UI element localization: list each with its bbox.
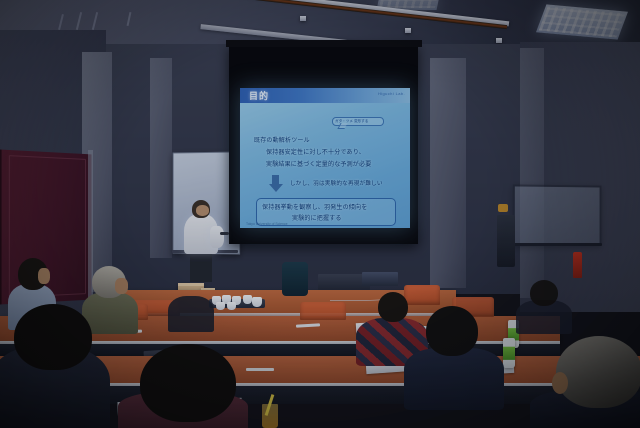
teacup-5: [216, 302, 225, 310]
attendee-foreground-right-ear: [552, 372, 568, 394]
wall-equipment-dark: [497, 215, 515, 267]
front-seat-right: [404, 285, 440, 305]
attendee-left-woman-face: [38, 268, 50, 284]
equipment-case: [362, 272, 398, 286]
attendee-far-left-mid-body: [168, 296, 214, 332]
track-mount-c: [496, 38, 502, 43]
slide-surface: 目的 Higuchi Lab. ガタ・ツメ 変形する 既存の動解析ツール 保持器…: [240, 88, 410, 228]
green-tea-bottle-2: [503, 338, 515, 368]
attendee-foreground-left-head: [14, 304, 92, 370]
slide-line-3: 実験結果に基づく定量的な予測が必要: [266, 159, 371, 168]
attendee-grey-hair-face: [115, 278, 128, 294]
attendee-navy-jacket-body: [404, 348, 504, 410]
whiteboard-tray-right: [512, 243, 602, 246]
attendee-foreground-right-head: [556, 336, 640, 408]
slide-line-2: 保持器安定性に対し不十分であり、: [266, 147, 365, 156]
slide-arrow-note: しかし、羽は実験的な再現が難しい: [290, 179, 383, 187]
attendee-foreground-centre-head: [140, 344, 236, 422]
slide-arrow-head-icon: [269, 184, 283, 192]
whiteboard-right-wall: [513, 184, 602, 246]
pen-row3-b: [246, 368, 274, 371]
slide-result-line-1: 保持器挙動を観察し、羽発生の傾向を: [262, 202, 367, 211]
slide-line-1: 既存の動解析ツール: [254, 135, 310, 144]
slide-result-line-2: 実験的に把握する: [292, 213, 342, 222]
slide-lab-logo: Higuchi Lab.: [378, 91, 405, 96]
pillar-centre-left: [150, 58, 172, 258]
presenter-face: [196, 205, 209, 216]
slide-footer: Tokyo University of Science: [246, 222, 287, 226]
slide-body: ガタ・ツメ 変形する 既存の動解析ツール 保持器安定性に対し不十分であり、 実験…: [240, 103, 410, 228]
slide-callout-text: ガタ・ツメ 変形する: [335, 119, 381, 124]
attendee-mid-right-head: [530, 280, 558, 306]
presenter-pointer: [220, 232, 229, 235]
presenter-arm: [210, 226, 224, 248]
track-mount-a: [300, 16, 306, 21]
teacup-4: [243, 295, 252, 304]
teacup-7: [252, 297, 262, 307]
slide-callout-bubble: ガタ・ツメ 変形する: [332, 117, 384, 126]
track-mount-b: [405, 28, 411, 33]
row2-seat-b: [300, 302, 346, 320]
projection-screen-casing: [226, 40, 422, 47]
slide-title: 目的: [249, 89, 269, 102]
attendee-plaid-head: [378, 292, 408, 322]
fire-extinguisher: [573, 252, 582, 278]
pillar-far-right: [520, 48, 544, 298]
pillar-right: [430, 58, 466, 288]
teacup-6: [227, 302, 236, 310]
attendee-navy-jacket-head: [426, 306, 478, 356]
presenter-chair: [282, 262, 308, 296]
wall-small-box: [498, 204, 508, 212]
lecture-hall-photo: 目的 Higuchi Lab. ガタ・ツメ 変形する 既存の動解析ツール 保持器…: [0, 0, 640, 428]
